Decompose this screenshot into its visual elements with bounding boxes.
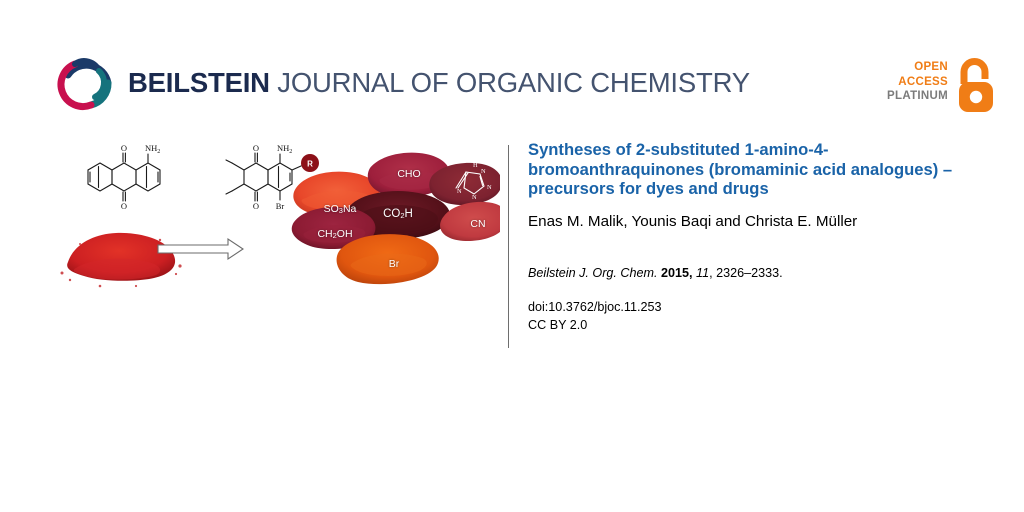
svg-text:N: N xyxy=(457,188,462,195)
br-powder xyxy=(337,234,439,284)
open-access-badge: OPEN ACCESS PLATINUM xyxy=(886,58,998,116)
citation-journal: Beilstein J. Org. Chem. xyxy=(528,266,657,280)
oa-line-platinum: PLATINUM xyxy=(886,89,948,104)
citation-year: 2015, xyxy=(657,266,692,280)
svg-text:NH2: NH2 xyxy=(277,143,292,155)
svg-text:Br: Br xyxy=(276,201,285,211)
svg-text:O: O xyxy=(121,201,127,211)
svg-text:NH2: NH2 xyxy=(145,143,160,155)
open-lock-icon xyxy=(954,58,998,114)
journal-wordmark: BEILSTEIN JOURNAL OF ORGANIC CHEMISTRY xyxy=(128,69,750,97)
svg-text:N: N xyxy=(487,184,492,191)
svg-text:N: N xyxy=(481,168,486,175)
citation-pages: , 2326–2333. xyxy=(709,266,783,280)
svg-text:O: O xyxy=(253,201,259,211)
masthead: BEILSTEIN JOURNAL OF ORGANIC CHEMISTRY O… xyxy=(0,0,1024,130)
cn-powder xyxy=(440,202,500,241)
oa-line-access: ACCESS xyxy=(886,75,948,90)
vertical-divider xyxy=(508,145,509,348)
svg-text:O: O xyxy=(121,143,127,153)
article-citation: Beilstein J. Org. Chem. 2015, 11, 2326–2… xyxy=(528,265,988,282)
oa-line-open: OPEN xyxy=(886,60,948,75)
svg-text:R: R xyxy=(307,160,313,169)
article-doi[interactable]: doi:10.3762/bjoc.11.253 xyxy=(528,299,988,316)
svg-text:N: N xyxy=(472,194,477,201)
beilstein-spiral-logo xyxy=(55,53,117,115)
graphical-abstract-figure: O O NH2 O O xyxy=(40,140,500,300)
article-license[interactable]: CC BY 2.0 xyxy=(528,317,988,334)
article-authors: Enas M. Malik, Younis Baqi and Christa E… xyxy=(528,212,988,231)
svg-text:H: H xyxy=(473,162,478,169)
wordmark-journal-of-organic-chemistry: JOURNAL OF ORGANIC CHEMISTRY xyxy=(270,67,750,98)
open-access-text: OPEN ACCESS PLATINUM xyxy=(886,60,948,104)
citation-volume: 11 xyxy=(696,266,709,280)
article-title: Syntheses of 2-substituted 1-amino-4-bro… xyxy=(528,140,968,199)
article-metadata: Syntheses of 2-substituted 1-amino-4-bro… xyxy=(528,140,988,334)
wordmark-beilstein: BEILSTEIN xyxy=(128,67,270,98)
svg-text:O: O xyxy=(253,143,259,153)
